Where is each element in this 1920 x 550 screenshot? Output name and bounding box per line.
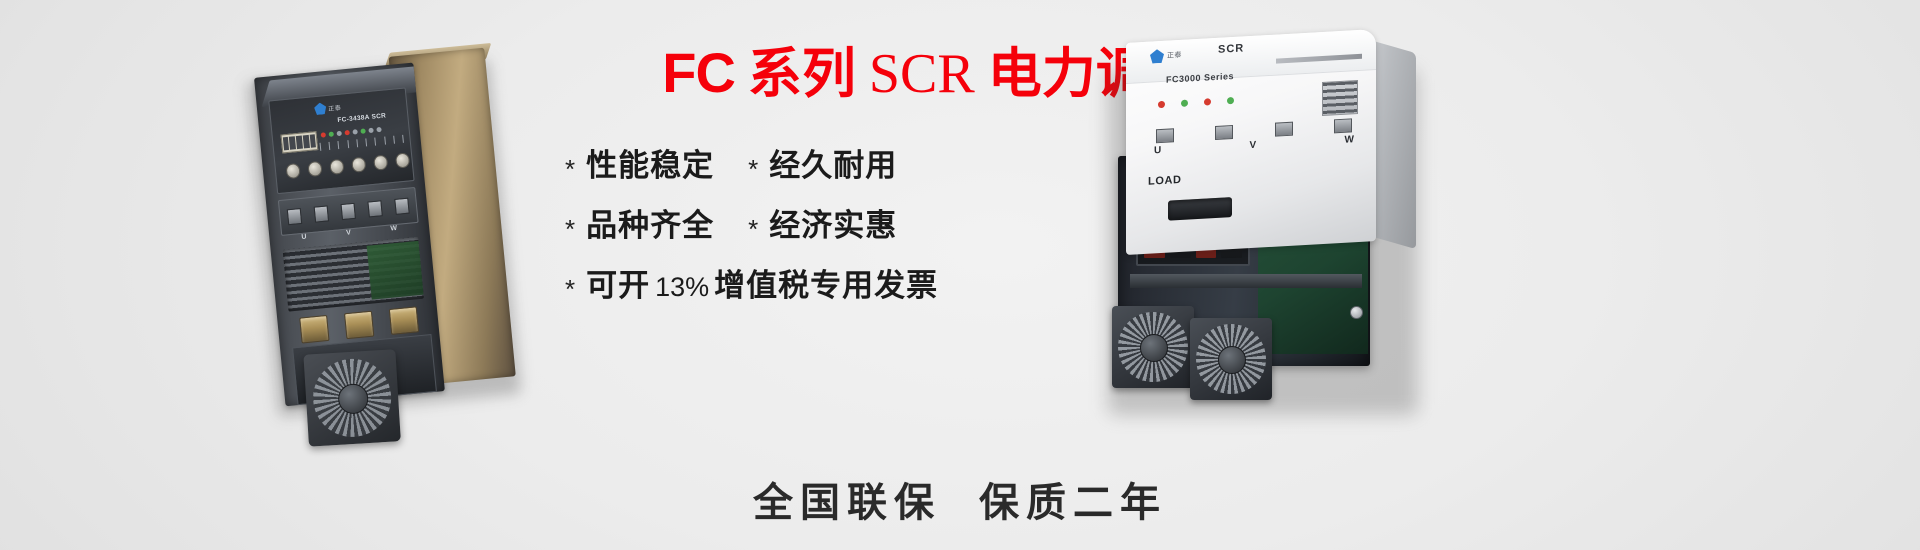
feature-label: 经久耐用: [769, 140, 897, 185]
cooling-fan-icon: [1190, 318, 1272, 400]
terminal-label-v: V: [346, 229, 351, 236]
bullet-star-icon: *: [565, 216, 575, 242]
product-right-brand-text: 正泰: [1167, 50, 1182, 61]
feature-item-full-range: * 品种齐全: [565, 200, 714, 245]
feature-item-durable: * 经久耐用: [748, 140, 897, 185]
cooling-fan-icon: [303, 349, 400, 446]
feature-row-3: * 可开 13% 增值税专用发票: [565, 260, 995, 320]
phase-label-u: U: [1154, 145, 1161, 156]
dip-switch-icon: [281, 131, 319, 153]
terminal-label-w: W: [390, 225, 397, 233]
bullet-star-icon: *: [748, 216, 758, 242]
phase-label-v: V: [1250, 140, 1257, 151]
feature-label: 经济实惠: [769, 200, 897, 245]
title-brand: FC: [662, 41, 735, 104]
bullet-star-icon: *: [565, 276, 575, 302]
warranty-tagline: 全国联保保质二年: [0, 470, 1920, 528]
product-image-right: 正泰 SCR FC3000 Series U V W LOAD: [1090, 30, 1450, 430]
title-tech: SCR: [869, 43, 975, 105]
vent-grille-icon: [1322, 80, 1358, 116]
product-right-top-shell: 正泰 SCR FC3000 Series U V W LOAD: [1126, 29, 1376, 255]
product-left-model-text: FC-3438A SCR: [337, 112, 386, 124]
feature-label: 性能稳定: [586, 140, 714, 185]
circuit-board: [367, 241, 424, 300]
mounting-rail: [1130, 274, 1362, 288]
feature-item-stable-performance: * 性能稳定: [565, 140, 714, 185]
handle-slot: [1168, 197, 1232, 221]
product-right-scr-label: SCR: [1218, 42, 1244, 55]
tagline-two-year-warranty: 保质二年: [979, 479, 1167, 526]
feature-row-1: * 性能稳定 * 经久耐用: [565, 140, 995, 200]
tagline-nationwide-service: 全国联保: [753, 479, 941, 526]
load-label: LOAD: [1148, 174, 1182, 188]
feature-label-suffix: 增值税专用发票: [714, 260, 938, 305]
feature-label: 品种齐全: [586, 200, 714, 245]
feature-item-economical: * 经济实惠: [748, 200, 897, 245]
feature-label-prefix: 可开: [586, 260, 650, 305]
page-title: FC系列SCR电力调整器: [0, 29, 1920, 108]
feature-row-2: * 品种齐全 * 经济实惠: [565, 200, 995, 260]
bolt-icon: [1350, 306, 1363, 319]
vat-rate-value: 13%: [655, 272, 709, 303]
cooling-fan-icon: [1112, 306, 1194, 388]
bullet-star-icon: *: [748, 156, 758, 182]
terminal-label-u: U: [301, 234, 307, 241]
title-series: 系列: [748, 42, 856, 105]
feature-list: * 性能稳定 * 经久耐用 * 品种齐全 * 经济实惠 * 可开 13%: [565, 140, 995, 320]
product-promo-banner: 正泰 FC-3438A SCR U V W: [0, 0, 1920, 550]
bullet-star-icon: *: [565, 156, 575, 182]
feature-item-vat-invoice: * 可开 13% 增值税专用发票: [565, 260, 938, 305]
led-indicator-row: [1158, 93, 1308, 111]
phase-label-w: W: [1345, 134, 1354, 146]
